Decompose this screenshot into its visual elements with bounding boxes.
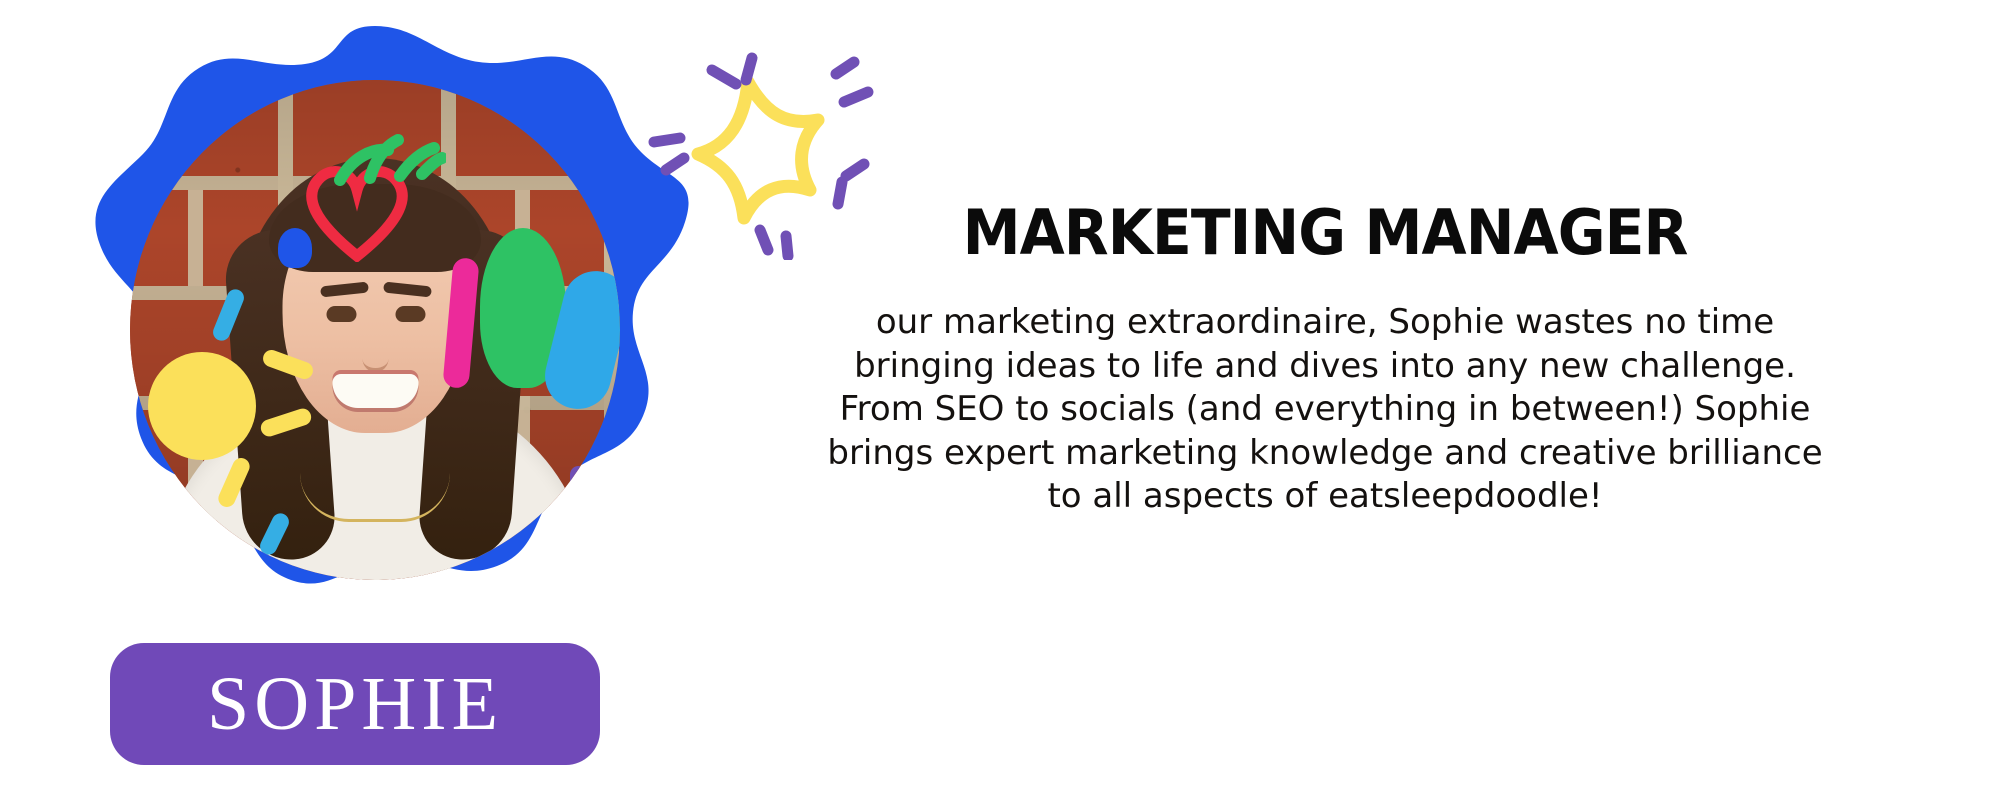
team-member-profile-card: SOPHIE MARKETING MANAGER our marketing e… xyxy=(0,0,2000,800)
bio-paragraph: our marketing extraordinaire, Sophie was… xyxy=(760,301,1890,519)
eye-right xyxy=(396,306,426,322)
role-title: MARKETING MANAGER xyxy=(794,200,1856,265)
portrait-photo xyxy=(130,80,620,580)
nose xyxy=(362,338,388,372)
portrait-medallion: SOPHIE xyxy=(55,18,695,788)
sprout-doodle xyxy=(326,118,446,188)
name-badge: SOPHIE xyxy=(110,643,600,765)
bio-line: From SEO to socials (and everything in b… xyxy=(760,388,1890,432)
scalloped-frame xyxy=(55,18,695,668)
bio-line: to all aspects of eatsleepdoodle! xyxy=(760,475,1890,519)
bio-line: our marketing extraordinaire, Sophie was… xyxy=(760,301,1890,345)
eyebrow-left xyxy=(320,282,369,298)
eye-left xyxy=(327,306,357,322)
smile xyxy=(332,374,418,408)
profile-copy: MARKETING MANAGER our marketing extraord… xyxy=(760,200,1890,519)
eyebrow-right xyxy=(383,282,432,298)
bio-line: brings expert marketing knowledge and cr… xyxy=(760,432,1890,476)
name-badge-label: SOPHIE xyxy=(207,666,503,742)
sun-doodle xyxy=(148,352,256,460)
bio-line: bringing ideas to life and dives into an… xyxy=(760,345,1890,389)
blob-blue-doodle xyxy=(278,228,312,268)
dash-purple-doodle xyxy=(570,466,587,518)
